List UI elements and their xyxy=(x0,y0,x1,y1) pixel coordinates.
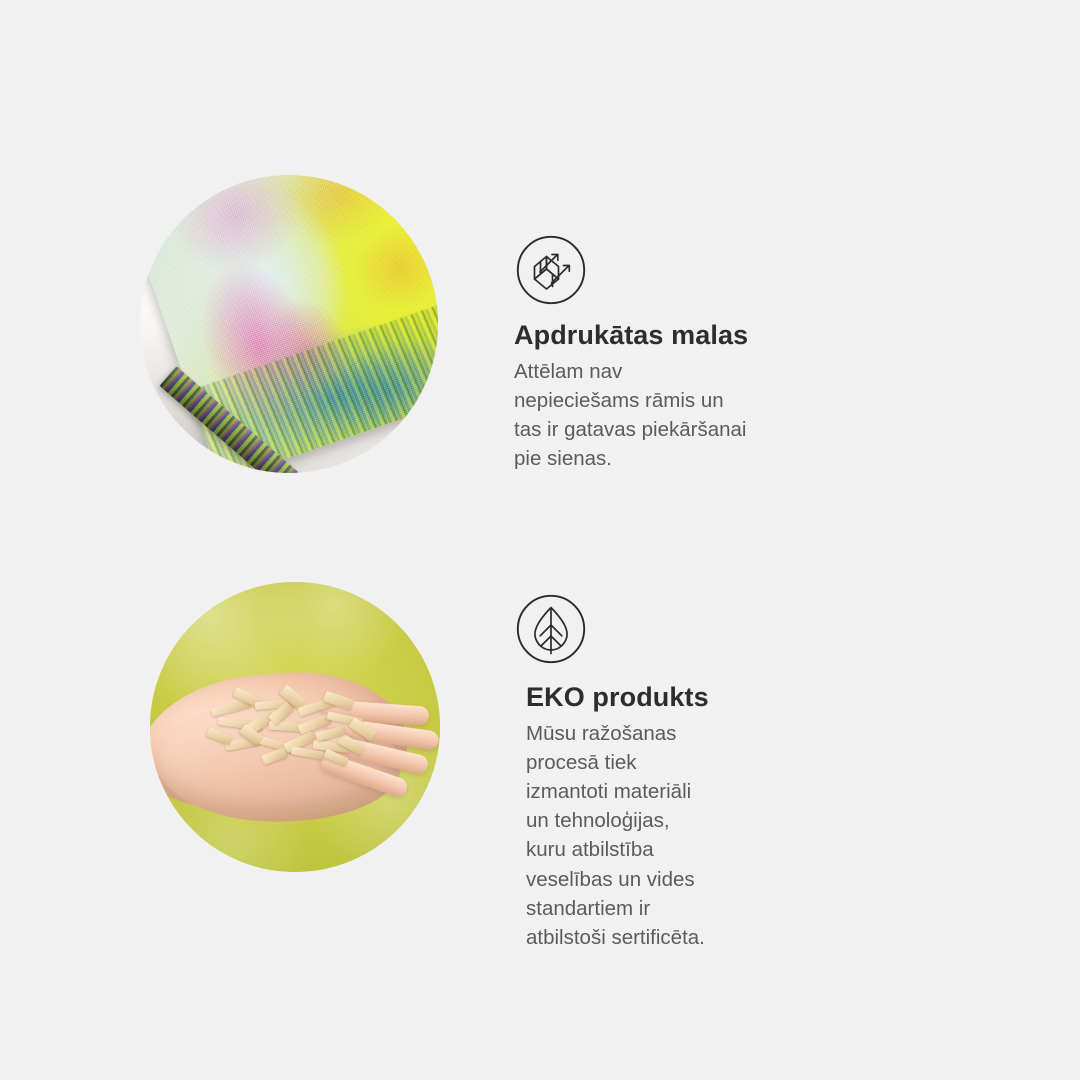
hands-holding-chips xyxy=(150,657,440,825)
wood-chips-hands-photo xyxy=(150,582,440,872)
feature-title: Apdrukātas malas xyxy=(514,320,748,351)
printed-edges-icon xyxy=(516,235,586,305)
canvas-printed-face xyxy=(140,175,438,473)
feature-page: Apdrukātas malas Attēlam nav nepieciešam… xyxy=(0,0,1080,1080)
feature-title: EKO produkts xyxy=(526,682,709,713)
wood-chips xyxy=(207,688,389,779)
wood-chip xyxy=(261,747,288,765)
canvas-print xyxy=(154,175,438,473)
feature-description: Mūsu ražošanas procesā tiek izmantoti ma… xyxy=(526,719,709,952)
feature-text-eco-product: EKO produkts Mūsu ražošanas procesā tiek… xyxy=(526,682,709,952)
wood-chip xyxy=(206,727,233,746)
feature-text-printed-edges: Apdrukātas malas Attēlam nav nepieciešam… xyxy=(514,320,748,473)
feature-description: Attēlam nav nepieciešams rāmis un tas ir… xyxy=(514,357,748,473)
canvas-corner-photo xyxy=(140,175,438,473)
leaf-icon xyxy=(516,594,586,664)
